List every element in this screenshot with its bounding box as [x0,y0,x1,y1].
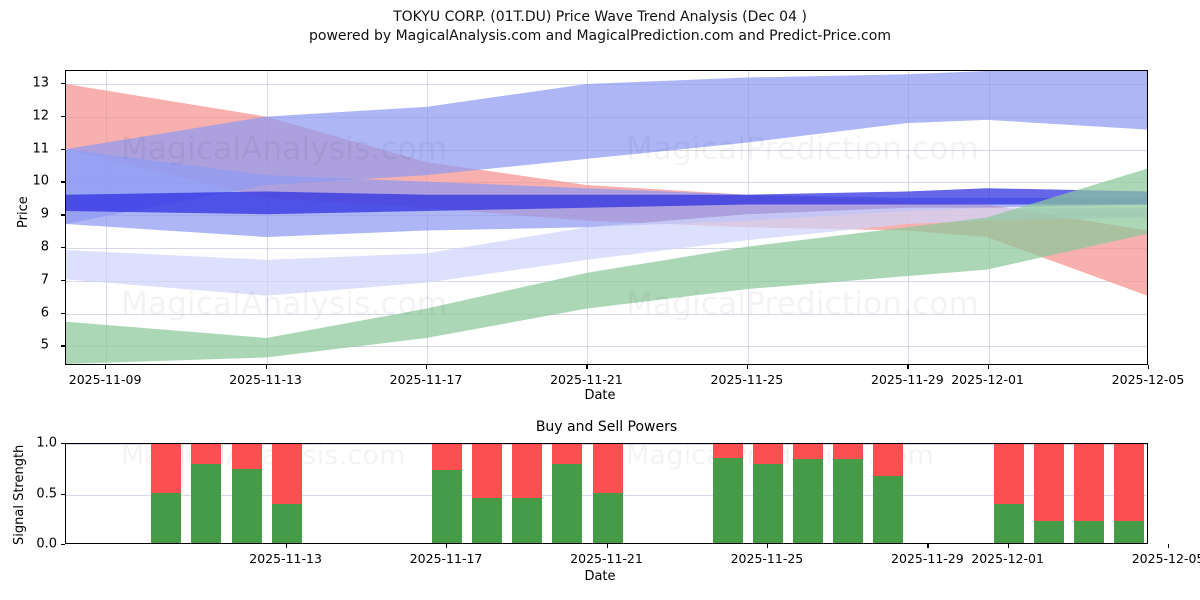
sell-power-segment [793,443,823,459]
buy-power-segment [1074,521,1104,543]
date-tick-label: 2025-11-21 [550,372,623,387]
sell-power-segment [512,443,542,498]
power-bar[interactable] [713,443,743,543]
power-bar[interactable] [512,443,542,543]
sell-power-segment [191,443,221,464]
date-tick-label: 2025-11-29 [891,551,964,566]
sell-power-segment [873,443,903,476]
power-bar[interactable] [593,443,623,543]
sell-power-segment [1114,443,1144,521]
signal-strength-tick-label: 0.0 [0,537,57,552]
power-bar[interactable] [472,443,502,543]
watermark-text: MagicalAnalysis.com [121,131,447,167]
power-bar[interactable] [272,443,302,543]
date-tick-mark [446,544,447,548]
power-subplot-title: Buy and Sell Powers [65,419,1148,435]
date-tick-mark [927,544,928,548]
figure-title-line-2: powered by MagicalAnalysis.com and Magic… [0,27,1200,46]
price-tick-mark [61,214,65,215]
sell-power-segment [232,443,262,469]
date-tick-label: 2025-11-17 [390,372,463,387]
date-tick-label: 2025-11-17 [410,551,483,566]
buy-power-segment [191,464,221,543]
power-bar[interactable] [151,443,181,543]
price-tick-mark [61,280,65,281]
buy-power-segment [232,469,262,543]
date-tick-mark [105,365,106,369]
date-tick-label: 2025-11-13 [229,372,302,387]
price-wave-plot-area: MagicalAnalysis.comMagicalPrediction.com… [65,70,1148,365]
price-tick-mark [61,181,65,182]
date-tick-label: 2025-11-25 [711,372,784,387]
main-watermark-layer: MagicalAnalysis.comMagicalPrediction.com… [66,71,1147,364]
signal-strength-tick-label: 0.5 [0,486,57,501]
date-tick-mark [266,365,267,369]
date-tick-mark [1008,544,1009,548]
signal-strength-tick-mark [61,494,65,495]
price-axis-label: Price [16,196,31,228]
price-tick-label: 7 [0,272,49,287]
price-tick: 11 [0,149,57,164]
price-tick-label: 6 [0,305,49,320]
date-tick-mark [767,544,768,548]
buy-power-segment [432,470,462,543]
buy-power-segment [833,459,863,543]
price-tick: 8 [0,247,57,262]
signal-strength-axis-label: Signal Strength [12,445,27,545]
price-tick-label: 13 [0,76,49,91]
date-tick-label: 2025-12-05 [1112,372,1185,387]
buy-power-segment [873,476,903,543]
power-bar[interactable] [873,443,903,543]
date-tick-mark [747,365,748,369]
sell-power-segment [151,443,181,493]
price-tick: 6 [0,313,57,328]
date-tick-label: 2025-12-01 [951,372,1024,387]
price-tick: 5 [0,345,57,360]
price-tick-mark [61,247,65,248]
price-tick: 12 [0,116,57,131]
date-tick-mark [1168,544,1169,548]
price-tick-mark [61,345,65,346]
power-bar[interactable] [432,443,462,543]
power-bar[interactable] [1114,443,1144,543]
price-tick-label: 12 [0,108,49,123]
price-tick-mark [61,149,65,150]
date-tick-mark [426,365,427,369]
power-bar[interactable] [1074,443,1104,543]
sell-power-segment [1034,443,1064,521]
power-date-axis-label: Date [0,569,1200,584]
sell-power-segment [272,443,302,504]
date-tick-mark [607,544,608,548]
buy-power-segment [1114,521,1144,543]
power-bar[interactable] [552,443,582,543]
sell-power-segment [432,443,462,470]
buy-power-segment [512,498,542,543]
power-bar-group [66,444,1147,543]
sell-power-segment [833,443,863,459]
sell-power-segment [1074,443,1104,521]
buy-power-segment [994,504,1024,543]
sell-power-segment [713,443,743,458]
date-tick-label: 2025-11-13 [249,551,322,566]
price-tick: 13 [0,83,57,98]
date-tick-mark [988,365,989,369]
power-bar[interactable] [1034,443,1064,543]
figure-canvas: TOKYU CORP. (01T.DU) Price Wave Trend An… [0,0,1200,600]
date-tick-label: 2025-11-21 [570,551,643,566]
buy-power-segment [593,493,623,544]
sell-power-segment [753,443,783,464]
date-tick-mark [286,544,287,548]
price-tick-mark [61,313,65,314]
price-tick-mark [61,116,65,117]
buy-power-segment [1034,521,1064,543]
sell-power-segment [994,443,1024,504]
price-tick-label: 8 [0,240,49,255]
sell-power-segment [552,443,582,464]
watermark-text: MagicalAnalysis.com [121,286,447,322]
buy-power-segment [793,459,823,543]
watermark-text: MagicalPrediction.com [626,286,979,322]
buy-power-segment [272,504,302,543]
watermark-text: MagicalPrediction.com [626,131,979,167]
date-tick-label: 2025-12-01 [971,551,1044,566]
price-tick-label: 5 [0,338,49,353]
sell-power-segment [472,443,502,498]
power-bar[interactable] [232,443,262,543]
figure-title-line-1: TOKYU CORP. (01T.DU) Price Wave Trend An… [0,8,1200,27]
date-tick-label: 2025-11-29 [871,372,944,387]
power-bar[interactable] [753,443,783,543]
date-tick-mark [586,365,587,369]
buy-sell-power-plot-area: MagicalAnalysis.comMagicalPrediction.com [65,443,1148,544]
signal-strength-tick-label: 1.0 [0,436,57,451]
buy-power-segment [151,493,181,544]
power-bar[interactable] [833,443,863,543]
signal-strength-tick-mark [61,443,65,444]
price-tick-label: 11 [0,141,49,156]
buy-power-segment [552,464,582,543]
main-date-axis-label: Date [0,388,1200,403]
price-tick-mark [61,83,65,84]
power-bar[interactable] [191,443,221,543]
date-tick-label: 2025-11-09 [69,372,142,387]
signal-strength-tick-mark [61,544,65,545]
power-bar[interactable] [994,443,1024,543]
date-tick-mark [1148,365,1149,369]
date-tick-label: 2025-12-05 [1132,551,1200,566]
price-tick-label: 10 [0,174,49,189]
sell-power-segment [593,443,623,493]
buy-power-segment [753,464,783,543]
price-tick: 7 [0,280,57,295]
date-tick-label: 2025-11-25 [731,551,804,566]
buy-power-segment [472,498,502,543]
date-tick-mark [907,365,908,369]
figure-title-block: TOKYU CORP. (01T.DU) Price Wave Trend An… [0,8,1200,46]
buy-power-segment [713,458,743,543]
price-tick: 10 [0,181,57,196]
power-bar[interactable] [793,443,823,543]
